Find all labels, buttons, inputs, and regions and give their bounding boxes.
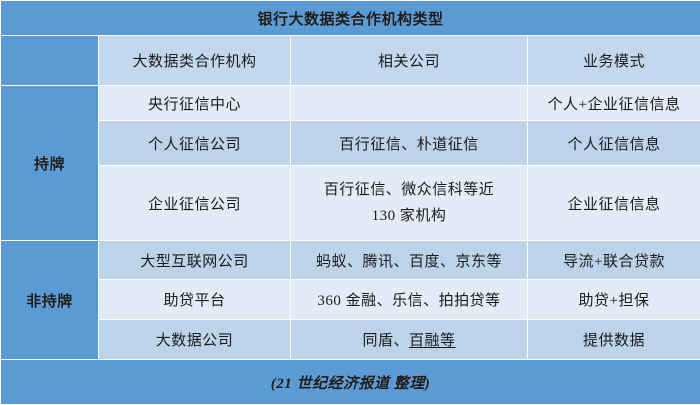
footer-row: (21 世纪经济报道 整理) <box>1 360 700 405</box>
cell-companies: 蚂蚁、腾讯、百度、京东等 <box>291 241 528 280</box>
cell-companies-line2: 130 家机构 <box>295 203 523 229</box>
cell-companies <box>291 86 528 121</box>
info-table: 银行大数据类合作机构类型 大数据类合作机构 相关公司 业务模式 持牌 央行征信中… <box>0 0 700 405</box>
cell-model: 导流+联合贷款 <box>528 241 700 280</box>
cell-model: 个人+企业征信信息 <box>528 86 700 121</box>
table-row: 助贷平台 360 金融、乐信、拍拍贷等 助贷+担保 <box>1 280 700 320</box>
cell-institution: 个人征信公司 <box>99 121 291 166</box>
cell-model: 企业征信信息 <box>528 166 700 241</box>
cell-institution: 大数据公司 <box>99 320 291 360</box>
cell-companies: 百行征信、朴道征信 <box>291 121 528 166</box>
cell-model: 助贷+担保 <box>528 280 700 320</box>
table-row: 企业征信公司 百行征信、微众信科等近 130 家机构 企业征信信息 <box>1 166 700 241</box>
column-header-row: 大数据类合作机构 相关公司 业务模式 <box>1 36 700 86</box>
cell-companies-prefix: 同盾、 <box>362 333 409 349</box>
cell-institution: 央行征信中心 <box>99 86 291 121</box>
cell-companies: 360 金融、乐信、拍拍贷等 <box>291 280 528 320</box>
column-header-category-blank <box>1 36 99 86</box>
cell-institution: 企业征信公司 <box>99 166 291 241</box>
cell-institution: 大型互联网公司 <box>99 241 291 280</box>
cell-companies-link[interactable]: 百融等 <box>409 333 456 349</box>
page-title: 银行大数据类合作机构类型 <box>1 1 700 36</box>
cell-model: 个人征信信息 <box>528 121 700 166</box>
cell-companies: 百行征信、微众信科等近 130 家机构 <box>291 166 528 241</box>
cell-companies: 同盾、百融等 <box>291 320 528 360</box>
table-row: 非持牌 大型互联网公司 蚂蚁、腾讯、百度、京东等 导流+联合贷款 <box>1 241 700 280</box>
source-attribution: (21 世纪经济报道 整理) <box>1 360 700 405</box>
category-unlicensed: 非持牌 <box>1 241 99 360</box>
cell-companies-line1: 百行征信、微众信科等近 <box>295 177 523 203</box>
bank-bigdata-partner-table: 银行大数据类合作机构类型 大数据类合作机构 相关公司 业务模式 持牌 央行征信中… <box>0 0 700 403</box>
table-row: 持牌 央行征信中心 个人+企业征信信息 <box>1 86 700 121</box>
title-row: 银行大数据类合作机构类型 <box>1 1 700 36</box>
cell-model: 提供数据 <box>528 320 700 360</box>
column-header-institution: 大数据类合作机构 <box>99 36 291 86</box>
cell-institution: 助贷平台 <box>99 280 291 320</box>
table-row: 大数据公司 同盾、百融等 提供数据 <box>1 320 700 360</box>
column-header-companies: 相关公司 <box>291 36 528 86</box>
category-licensed: 持牌 <box>1 86 99 241</box>
table-row: 个人征信公司 百行征信、朴道征信 个人征信信息 <box>1 121 700 166</box>
column-header-model: 业务模式 <box>528 36 700 86</box>
